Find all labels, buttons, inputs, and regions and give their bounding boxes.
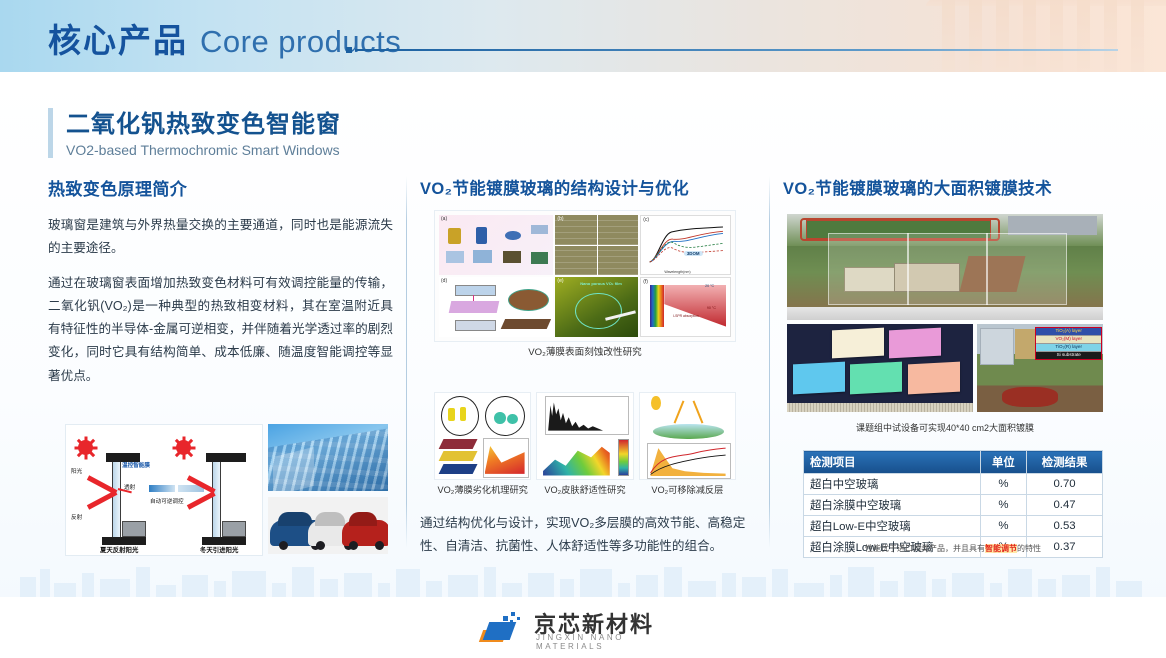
middle-column-note: 通过结构优化与设计，实现VO₂多层膜的高效节能、高稳定性、自清洁、抗菌性、人体舒…: [420, 512, 758, 559]
sample-swatch-green: [850, 361, 902, 394]
panel-label-e: (e): [557, 278, 563, 284]
column-divider-2: [769, 176, 770, 548]
indoor-furniture-winter: [222, 521, 246, 537]
table-header-result: 检测结果: [1027, 451, 1103, 474]
table-row: 超白Low-E中空玻璃 % 0.53: [804, 516, 1103, 537]
page-title-en: Core products: [200, 24, 401, 59]
slide: 核心产品Core products 二氧化钒热致变色智能窗 VO2-based …: [0, 0, 1166, 658]
window-frame-top-winter: [206, 453, 246, 462]
panel-f-temp-high: 90 °C: [707, 306, 716, 310]
figure-panel-b: (b): [555, 215, 638, 275]
layer-tio2-r: TiO₂(R) layer: [1036, 344, 1102, 352]
panel-label-c: (c): [643, 217, 649, 223]
test-results-table: 检测项目 单位 检测结果 超白中空玻璃 % 0.70 超白涂膜中空玻璃 % 0.…: [803, 450, 1103, 558]
section-accent-bar: [48, 108, 53, 158]
page-title-cn: 核心产品: [48, 22, 188, 59]
photo-cars: [268, 497, 388, 554]
figure-panel-d: (d): [439, 277, 553, 337]
panel-label-a: (a): [441, 216, 447, 222]
right-photo-caption: 课题组中试设备可实现40*40 cm2大面积镀膜: [787, 421, 1103, 434]
figure-panel-f-spectrum-plot: (f) 20 °C 90 °C LSPR absorption: [640, 277, 731, 337]
sample-swatch-cream: [832, 328, 884, 359]
table-footnote: 性能优于进口同类产品，并且具有智能调节的特性: [803, 543, 1103, 554]
figure-skin-comfort: [536, 392, 633, 480]
smart-glass-winter: [212, 462, 221, 537]
label-reflect: 反射: [71, 513, 82, 521]
figure-caption-1: VO₂薄膜劣化机理研究: [434, 482, 531, 496]
cell-result: 0.70: [1027, 474, 1103, 495]
right-column: VO₂节能镀膜玻璃的大面积镀膜技术: [783, 175, 1113, 213]
layer-tio2-a: TiO₂(A) layer: [1036, 328, 1102, 336]
cell-result: 0.53: [1027, 516, 1103, 537]
panel-label-f: (f): [643, 279, 648, 285]
left-column: 热致变色原理简介 玻璃窗是建筑与外界热量交换的主要通道，同时也是能源流失的主要途…: [48, 175, 393, 399]
panel-label-b: (b): [557, 216, 563, 222]
panel-label-d: (d): [441, 278, 447, 284]
cell-unit: %: [980, 474, 1026, 495]
window-base-winter: [202, 537, 246, 545]
caption-winter: 冬天引进阳光: [200, 545, 238, 554]
photo-coated-glass-samples: [787, 324, 973, 412]
ruler: [787, 403, 973, 412]
table-footnote-highlight: 智能调节: [985, 544, 1017, 553]
figure-row-captions: VO₂薄膜劣化机理研究 VO₂皮肤舒适性研究 VO₂可移除减反层: [434, 482, 736, 496]
thermochromic-window-diagram: 阳光 温控智能膜 透射 反射 夏天反射阳光 自动可逆调控 冬天引进阳光: [65, 424, 263, 556]
layer-si-substrate: Si substrate: [1036, 352, 1102, 359]
panel-f-temp-low: 20 °C: [705, 284, 714, 288]
table-footnote-prefix: 性能优于进口同类产品，并且具有: [865, 544, 985, 553]
table-header-row: 检测项目 单位 检测结果: [804, 451, 1103, 474]
figure-caption-3: VO₂可移除减反层: [639, 482, 736, 496]
photo-large-area-coating-demo: [787, 214, 1103, 320]
glass-display-shelf: [787, 307, 1103, 320]
film-stack-diagram: TiO₂(A) layer VO₂(M) layer TiO₂(R) layer…: [1035, 327, 1103, 360]
label-transmit: 透射: [124, 483, 135, 491]
glass-pane-1: [828, 233, 909, 305]
cell-result: 0.47: [1027, 495, 1103, 516]
cell-item: 超白中空玻璃: [804, 474, 981, 495]
glass-pane-3: [986, 233, 1067, 305]
figure-degradation-mechanism: [434, 392, 531, 480]
sun-icon-winter: [176, 440, 191, 455]
middle-column: VO₂节能镀膜玻璃的结构设计与优化: [420, 175, 760, 213]
section-divider-rule: [355, 49, 1118, 51]
header-building-watermark: [936, 0, 1166, 72]
slide-header: 核心产品Core products: [0, 0, 1166, 72]
photo-campus-with-layer-diagram: TiO₂(A) layer VO₂(M) layer TiO₂(R) layer…: [977, 324, 1103, 412]
caption-summer: 夏天反射阳光: [100, 545, 138, 554]
sample-swatch-peach: [908, 361, 960, 394]
panel-e-tag: Nano porous VO₂ film: [580, 281, 622, 286]
column-divider-1: [406, 176, 407, 548]
sun-icon-summer: [78, 440, 93, 455]
panel-f-lspr-tag: LSPR absorption: [673, 314, 699, 318]
logo-mark-icon: [480, 610, 524, 644]
section-title-en: VO2-based Thermochromic Smart Windows: [66, 142, 341, 158]
panel-c-tag: 3DOM: [684, 251, 703, 256]
reverse-arrow-left: [149, 485, 175, 492]
cell-unit: %: [980, 495, 1026, 516]
label-auto-reversible: 自动可逆调控: [150, 497, 184, 505]
cell-item: 超白涂膜中空玻璃: [804, 495, 981, 516]
city-skyline-watermark: [0, 565, 1166, 597]
figure-panel-c-transmittance-plot: (c) 3DOM Wavelength(nm): [640, 215, 731, 275]
figure-panel-e-leaf-photo: (e) Nano porous VO₂ film: [555, 277, 638, 337]
company-logo: 京芯新材料 JINGXIN NANO MATERIALS: [480, 606, 680, 646]
label-sunlight-summer: 阳光: [71, 467, 82, 475]
figure-removable-ar-layer: [639, 392, 736, 480]
page-title: 核心产品Core products: [48, 14, 401, 62]
left-paragraph-2: 通过在玻璃窗表面增加热致变色材料可有效调控能量的传输，二氧化钒(VO₂)是一种典…: [48, 272, 393, 388]
table-header-unit: 单位: [980, 451, 1026, 474]
sample-swatch-pink: [889, 328, 941, 359]
cell-item: 超白Low-E中空玻璃: [804, 516, 981, 537]
window-base-summer: [102, 537, 146, 545]
panel-c-xlabel: Wavelength(nm): [664, 270, 690, 274]
middle-column-heading: VO₂节能镀膜玻璃的结构设计与优化: [420, 175, 760, 199]
right-column-heading: VO₂节能镀膜玻璃的大面积镀膜技术: [783, 175, 1113, 199]
left-paragraph-1: 玻璃窗是建筑与外界热量交换的主要通道，同时也是能源流失的主要途径。: [48, 214, 393, 261]
table-row: 超白中空玻璃 % 0.70: [804, 474, 1103, 495]
smart-glass-summer: [112, 462, 121, 537]
photo-glass-building: [268, 424, 388, 491]
table-footnote-suffix: 的特性: [1017, 544, 1041, 553]
table-header-item: 检测项目: [804, 451, 981, 474]
label-smart-film: 温控智能膜: [122, 461, 150, 469]
figure-row-three-studies: [434, 392, 736, 480]
figure-panel-a: (a): [439, 215, 553, 275]
logo-text-en: JINGXIN NANO MATERIALS: [536, 633, 680, 651]
car-red: [342, 520, 388, 546]
figure-top-caption: VO₂薄膜表面刻蚀改性研究: [434, 344, 736, 358]
figure-panel-etching-study: (a) (b) (c): [434, 210, 736, 342]
layer-vo2-m: VO₂(M) layer: [1036, 336, 1102, 344]
section-title-cn: 二氧化钒热致变色智能窗: [66, 104, 341, 139]
cell-unit: %: [980, 516, 1026, 537]
sample-swatch-cyan: [793, 361, 845, 394]
section-title-block: 二氧化钒热致变色智能窗 VO2-based Thermochromic Smar…: [48, 104, 341, 158]
table-row: 超白涂膜中空玻璃 % 0.47: [804, 495, 1103, 516]
figure-caption-2: VO₂皮肤舒适性研究: [536, 482, 633, 496]
left-column-heading: 热致变色原理简介: [48, 175, 393, 200]
indoor-furniture-summer: [122, 521, 146, 537]
glass-pane-2: [907, 233, 988, 305]
